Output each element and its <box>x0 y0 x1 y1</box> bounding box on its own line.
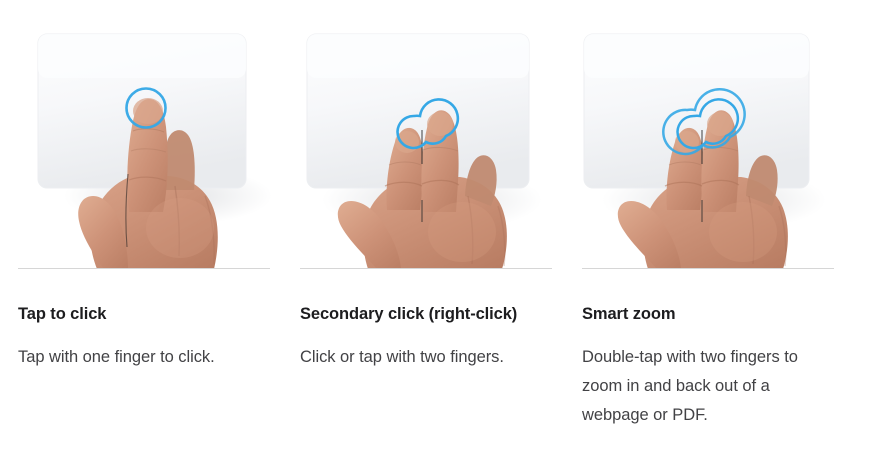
trackpad-two-finger-double-tap-illustration <box>564 0 846 269</box>
gesture-description: Double-tap with two fingers to zoom in a… <box>582 343 832 430</box>
trackpad-two-finger-tap-illustration <box>282 0 564 269</box>
gesture-cards-board: Tap to click Tap with one finger to clic… <box>0 0 884 472</box>
gesture-heading: Secondary click (right-click) <box>300 304 556 324</box>
gesture-card-tap-to-click: Tap to click Tap with one finger to clic… <box>0 0 282 472</box>
gesture-heading: Smart zoom <box>582 304 838 324</box>
card-divider <box>18 268 270 269</box>
card-divider <box>300 268 552 269</box>
card-divider <box>582 268 834 269</box>
gesture-description: Click or tap with two fingers. <box>300 343 550 372</box>
trackpad-one-finger-tap-illustration <box>0 0 282 269</box>
gesture-heading: Tap to click <box>18 304 274 324</box>
gesture-card-secondary-click: Secondary click (right-click) Click or t… <box>282 0 564 472</box>
gesture-description: Tap with one finger to click. <box>18 343 268 372</box>
gesture-card-smart-zoom: Smart zoom Double-tap with two fingers t… <box>564 0 846 472</box>
